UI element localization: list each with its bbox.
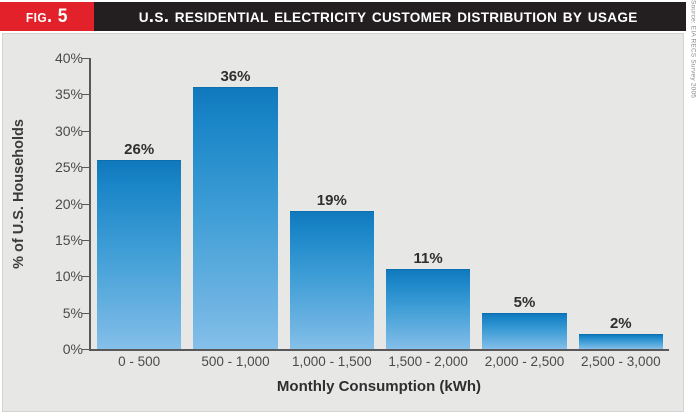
y-axis-tick-label: 20%: [37, 196, 83, 212]
x-axis-tick-label: 500 - 1,000: [187, 354, 283, 369]
y-axis-tick-mark: [82, 58, 89, 59]
y-axis-tick-label: 30%: [37, 123, 83, 139]
y-axis-tick-label: 10%: [37, 268, 83, 284]
bar-slot: 5%: [476, 58, 572, 349]
figure-container: Fig. 5 U.S. Residential Electricity Cust…: [0, 0, 700, 416]
y-axis-tick-labels: 40%35%30%25%20%15%10%5%0%: [31, 34, 83, 411]
figure-number-badge: Fig. 5: [0, 2, 94, 31]
bar-value-label: 11%: [386, 250, 470, 267]
x-axis-tick-label: 1,000 - 1,500: [284, 354, 380, 369]
x-axis-tick-label: 2,500 - 3,000: [573, 354, 669, 369]
bar[interactable]: 2%: [579, 334, 663, 349]
source-credit: Source: EIA RECS Survey 2005: [686, 0, 700, 120]
x-axis-line: [89, 349, 669, 351]
y-axis-tick-mark: [82, 94, 89, 95]
bar[interactable]: 19%: [290, 211, 374, 349]
x-axis-tick-label: 2,000 - 2,500: [476, 354, 572, 369]
bar-slot: 26%: [91, 58, 187, 349]
y-axis-tick-label: 25%: [37, 159, 83, 175]
y-axis-tick-mark: [82, 204, 89, 205]
y-axis-tick-label: 5%: [37, 305, 83, 321]
figure-header: Fig. 5 U.S. Residential Electricity Cust…: [0, 2, 686, 31]
bar-series: 26%36%19%11%5%2%: [91, 58, 669, 349]
bar-value-label: 36%: [193, 68, 277, 85]
figure-number-label: Fig. 5: [26, 6, 68, 28]
chart-panel: % of U.S. Households 40%35%30%25%20%15%1…: [2, 33, 684, 412]
y-axis-tick-mark: [82, 313, 89, 314]
y-axis-tick-mark: [82, 167, 89, 168]
y-axis-tick-mark: [82, 131, 89, 132]
page-title: U.S. Residential Electricity Customer Di…: [139, 5, 638, 28]
y-axis-tick-mark: [82, 240, 89, 241]
bar-slot: 36%: [187, 58, 283, 349]
y-axis-title: % of U.S. Households: [7, 34, 31, 354]
figure-title-container: U.S. Residential Electricity Customer Di…: [94, 2, 686, 31]
bar[interactable]: 26%: [97, 160, 181, 349]
bar-slot: 19%: [284, 58, 380, 349]
y-axis-tick-label: 0%: [37, 341, 83, 357]
x-axis-title-text: Monthly Consumption (kWh): [277, 378, 481, 395]
y-axis-title-text: % of U.S. Households: [11, 119, 27, 269]
bar[interactable]: 5%: [482, 313, 566, 349]
bar-value-label: 19%: [290, 192, 374, 209]
x-axis-title: Monthly Consumption (kWh): [89, 378, 669, 396]
plot-area: 26%36%19%11%5%2%: [89, 58, 669, 349]
bar-value-label: 26%: [97, 141, 181, 158]
bar-value-label: 2%: [579, 315, 663, 332]
y-axis-tick-mark: [82, 276, 89, 277]
source-credit-text: Source: EIA RECS Survey 2005: [690, 0, 697, 98]
bar[interactable]: 36%: [193, 87, 277, 349]
bar-slot: 11%: [380, 58, 476, 349]
y-axis-tick-label: 40%: [37, 50, 83, 66]
x-axis-tick-label: 0 - 500: [91, 354, 187, 369]
bar[interactable]: 11%: [386, 269, 470, 349]
x-axis-tick-labels: 0 - 500500 - 1,0001,000 - 1,5001,500 - 2…: [91, 354, 669, 369]
x-axis-tick-label: 1,500 - 2,000: [380, 354, 476, 369]
bar-value-label: 5%: [482, 294, 566, 311]
y-axis-tick-label: 15%: [37, 232, 83, 248]
y-axis-tick-label: 35%: [37, 86, 83, 102]
y-axis-tick-mark: [82, 349, 89, 350]
bar-slot: 2%: [573, 58, 669, 349]
